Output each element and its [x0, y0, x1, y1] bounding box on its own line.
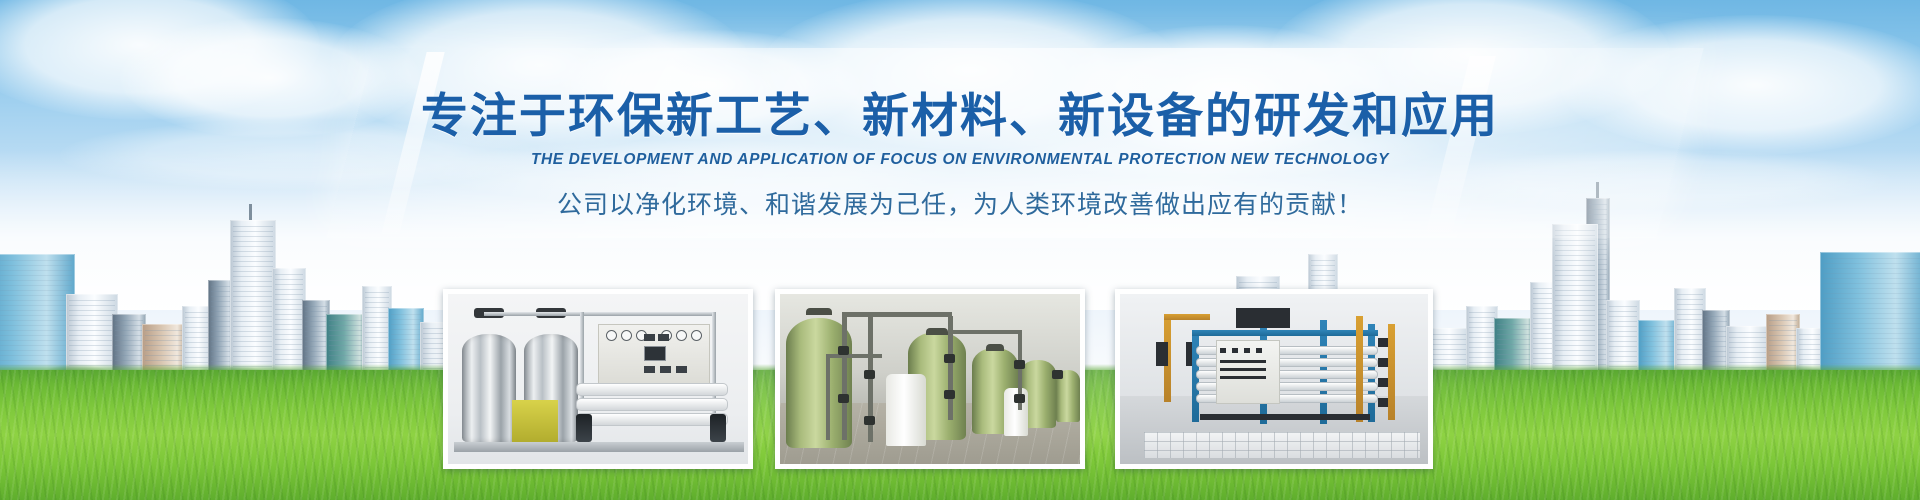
banner-tagline: 公司以净化环境、和谐发展为己任，为人类环境改善做出应有的贡献！ [0, 185, 1920, 221]
banner-subheadline: THE DEVELOPMENT AND APPLICATION OF FOCUS… [0, 151, 1920, 169]
photo-gallery [443, 289, 1433, 469]
photo-card-stainless-ro-water-treatment-skid[interactable] [443, 289, 753, 469]
hero-banner: 专注于环保新工艺、新材料、新设备的研发和应用 THE DEVELOPMENT A… [0, 0, 1920, 500]
banner-text-block: 专注于环保新工艺、新材料、新设备的研发和应用 THE DEVELOPMENT A… [0, 88, 1920, 221]
photo-stainless-ro-water-treatment-skid [448, 294, 748, 464]
photo-card-green-frp-filter-vessels[interactable] [775, 289, 1085, 469]
photo-card-industrial-ro-plant[interactable] [1115, 289, 1433, 469]
photo-industrial-ro-plant [1120, 294, 1428, 464]
photo-green-frp-filter-vessels [780, 294, 1080, 464]
banner-headline: 专注于环保新工艺、新材料、新设备的研发和应用 [0, 88, 1920, 144]
